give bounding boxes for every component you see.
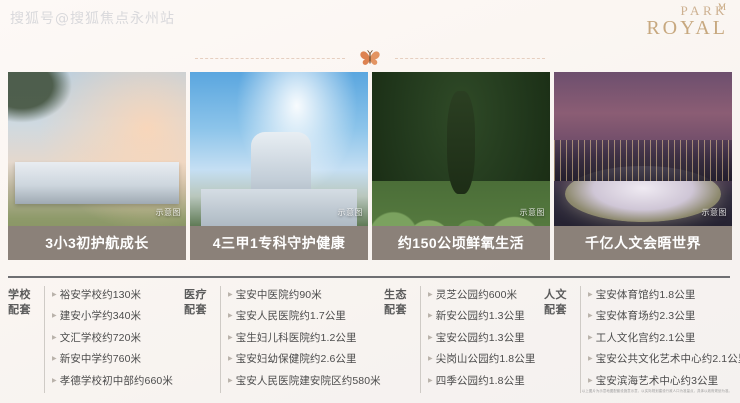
list-item: ▶宝安公共文化艺术中心约2.1公里 [588, 350, 740, 371]
logo-line-1: PARK [646, 4, 728, 18]
education-card-caption: 3小3初护航成长 [8, 226, 186, 260]
bullet-triangle-icon: ▶ [228, 286, 233, 305]
list-item: ▶宝安公园约1.3公里 [428, 329, 544, 350]
list-item: ▶建安小学约340米 [52, 307, 184, 328]
list-item: ▶裕安学校约130米 [52, 286, 184, 307]
list-item-text: 尖岗山公园约1.8公里 [436, 350, 536, 369]
list-item: ▶工人文化宫约2.1公里 [588, 329, 740, 350]
amenity-group-ecology: 生态 配套 ▶灵芝公园约600米 ▶新安公园约1.3公里 ▶宝安公园约1.3公里… [384, 286, 544, 386]
list-item: ▶宝安体育馆约1.8公里 [588, 286, 740, 307]
butterfly-icon [359, 48, 381, 68]
divider-dash-left [195, 58, 345, 59]
bullet-triangle-icon: ▶ [228, 329, 233, 348]
ecology-label-line1: 生态 [384, 288, 414, 303]
amenity-group-medical-label: 医疗 配套 [184, 286, 214, 318]
list-item: ▶四季公园约1.8公里 [428, 372, 544, 393]
culture-card[interactable]: 示意图 千亿人文会晤世界 [554, 72, 732, 260]
feature-card-row: 示意图 3小3初护航成长 示意图 4三甲1专科守护健康 示意图 约150公顷鲜氧… [8, 72, 732, 260]
list-item-text: 裕安学校约130米 [60, 286, 141, 305]
logo-monogram-icon: M [718, 3, 726, 12]
ecology-card-caption: 约150公顷鲜氧生活 [372, 226, 550, 260]
list-item: ▶宝安人民医院建安院区约580米 [228, 372, 384, 393]
education-card[interactable]: 示意图 3小3初护航成长 [8, 72, 186, 260]
list-item-text: 灵芝公园约600米 [436, 286, 517, 305]
list-item: ▶孝德学校初中部约660米 [52, 372, 184, 393]
school-label-line2: 配套 [8, 303, 38, 318]
school-item-list: ▶裕安学校约130米 ▶建安小学约340米 ▶文汇学校约720米 ▶新安中学约7… [44, 286, 184, 393]
list-item: ▶宝安妇幼保健院约2.6公里 [228, 350, 384, 371]
bullet-triangle-icon: ▶ [52, 307, 57, 326]
ecology-shot-note: 示意图 [520, 207, 546, 218]
divider-dash-right [395, 58, 545, 59]
bullet-triangle-icon: ▶ [588, 350, 593, 369]
medical-card[interactable]: 示意图 4三甲1专科守护健康 [190, 72, 368, 260]
list-item-text: 工人文化宫约2.1公里 [596, 329, 696, 348]
bullet-triangle-icon: ▶ [428, 307, 433, 326]
list-item-text: 文汇学校约720米 [60, 329, 141, 348]
logo-line-2: ROYAL [646, 18, 728, 39]
brand-logo: M PARK ROYAL [646, 4, 728, 39]
bullet-triangle-icon: ▶ [428, 329, 433, 348]
amenity-group-culture: 人文 配套 ▶宝安体育馆约1.8公里 ▶宝安体育场约2.3公里 ▶工人文化宫约2… [544, 286, 732, 386]
list-item-text: 宝安中医院约90米 [236, 286, 322, 305]
education-shot-note: 示意图 [156, 207, 182, 218]
culture-shot-note: 示意图 [702, 207, 728, 218]
site-watermark: 搜狐号@搜狐焦点永州站 [10, 8, 175, 28]
list-item: ▶文汇学校约720米 [52, 329, 184, 350]
culture-label-line1: 人文 [544, 288, 574, 303]
amenity-group-culture-label: 人文 配套 [544, 286, 574, 318]
list-item-text: 宝安妇幼保健院约2.6公里 [236, 350, 357, 369]
list-item: ▶宝安体育场约2.3公里 [588, 307, 740, 328]
bullet-triangle-icon: ▶ [428, 372, 433, 391]
list-item-text: 宝安人民医院建安院区约580米 [236, 372, 381, 391]
list-item: ▶宝安人民医院约1.7公里 [228, 307, 384, 328]
amenity-group-school: 学校 配套 ▶裕安学校约130米 ▶建安小学约340米 ▶文汇学校约720米 ▶… [8, 286, 184, 386]
list-item-text: 宝安体育馆约1.8公里 [596, 286, 696, 305]
bullet-triangle-icon: ▶ [52, 372, 57, 391]
amenity-group-school-label: 学校 配套 [8, 286, 38, 318]
school-label-line1: 学校 [8, 288, 38, 303]
legal-disclaimer: 以上图片为示意地图配套设施意示意，以实际规划建设行政人口为准量点，具体以政府规划… [582, 388, 732, 393]
ecology-label-line2: 配套 [384, 303, 414, 318]
bullet-triangle-icon: ▶ [52, 350, 57, 369]
section-rule [8, 276, 730, 278]
list-item-text: 新安公园约1.3公里 [436, 307, 525, 326]
bullet-triangle-icon: ▶ [588, 307, 593, 326]
bullet-triangle-icon: ▶ [52, 329, 57, 348]
bullet-triangle-icon: ▶ [428, 286, 433, 305]
bullet-triangle-icon: ▶ [228, 372, 233, 391]
medical-label-line1: 医疗 [184, 288, 214, 303]
medical-label-line2: 配套 [184, 303, 214, 318]
list-item-text: 宝生妇儿科医院约1.2公里 [236, 329, 357, 348]
list-item-text: 建安小学约340米 [60, 307, 141, 326]
bullet-triangle-icon: ▶ [228, 350, 233, 369]
list-item: ▶宝生妇儿科医院约1.2公里 [228, 329, 384, 350]
medical-card-caption: 4三甲1专科守护健康 [190, 226, 368, 260]
list-item: ▶灵芝公园约600米 [428, 286, 544, 307]
list-item-text: 新安中学约760米 [60, 350, 141, 369]
decorative-divider [0, 46, 740, 70]
bullet-triangle-icon: ▶ [588, 329, 593, 348]
bullet-triangle-icon: ▶ [52, 286, 57, 305]
list-item: ▶宝安中医院约90米 [228, 286, 384, 307]
bullet-triangle-icon: ▶ [588, 286, 593, 305]
medical-shot-note: 示意图 [338, 207, 364, 218]
bullet-triangle-icon: ▶ [428, 350, 433, 369]
list-item: ▶新安中学约760米 [52, 350, 184, 371]
medical-item-list: ▶宝安中医院约90米 ▶宝安人民医院约1.7公里 ▶宝生妇儿科医院约1.2公里 … [220, 286, 384, 393]
page-header: 搜狐号@搜狐焦点永州站 M PARK ROYAL [0, 0, 740, 40]
amenities-table: 学校 配套 ▶裕安学校约130米 ▶建安小学约340米 ▶文汇学校约720米 ▶… [8, 286, 732, 386]
culture-item-list: ▶宝安体育馆约1.8公里 ▶宝安体育场约2.3公里 ▶工人文化宫约2.1公里 ▶… [580, 286, 740, 393]
culture-label-line2: 配套 [544, 303, 574, 318]
amenity-group-ecology-label: 生态 配套 [384, 286, 414, 318]
bullet-triangle-icon: ▶ [228, 307, 233, 326]
list-item-text: 四季公园约1.8公里 [436, 372, 525, 391]
ecology-card[interactable]: 示意图 约150公顷鲜氧生活 [372, 72, 550, 260]
list-item: ▶新安公园约1.3公里 [428, 307, 544, 328]
ecology-item-list: ▶灵芝公园约600米 ▶新安公园约1.3公里 ▶宝安公园约1.3公里 ▶尖岗山公… [420, 286, 544, 393]
list-item-text: 宝安人民医院约1.7公里 [236, 307, 346, 326]
list-item-text: 宝安公园约1.3公里 [436, 329, 525, 348]
list-item: ▶尖岗山公园约1.8公里 [428, 350, 544, 371]
list-item-text: 宝安公共文化艺术中心约2.1公里 [596, 350, 740, 369]
culture-card-caption: 千亿人文会晤世界 [554, 226, 732, 260]
list-item-text: 孝德学校初中部约660米 [60, 372, 173, 391]
amenity-group-medical: 医疗 配套 ▶宝安中医院约90米 ▶宝安人民医院约1.7公里 ▶宝生妇儿科医院约… [184, 286, 384, 386]
list-item-text: 宝安体育场约2.3公里 [596, 307, 696, 326]
